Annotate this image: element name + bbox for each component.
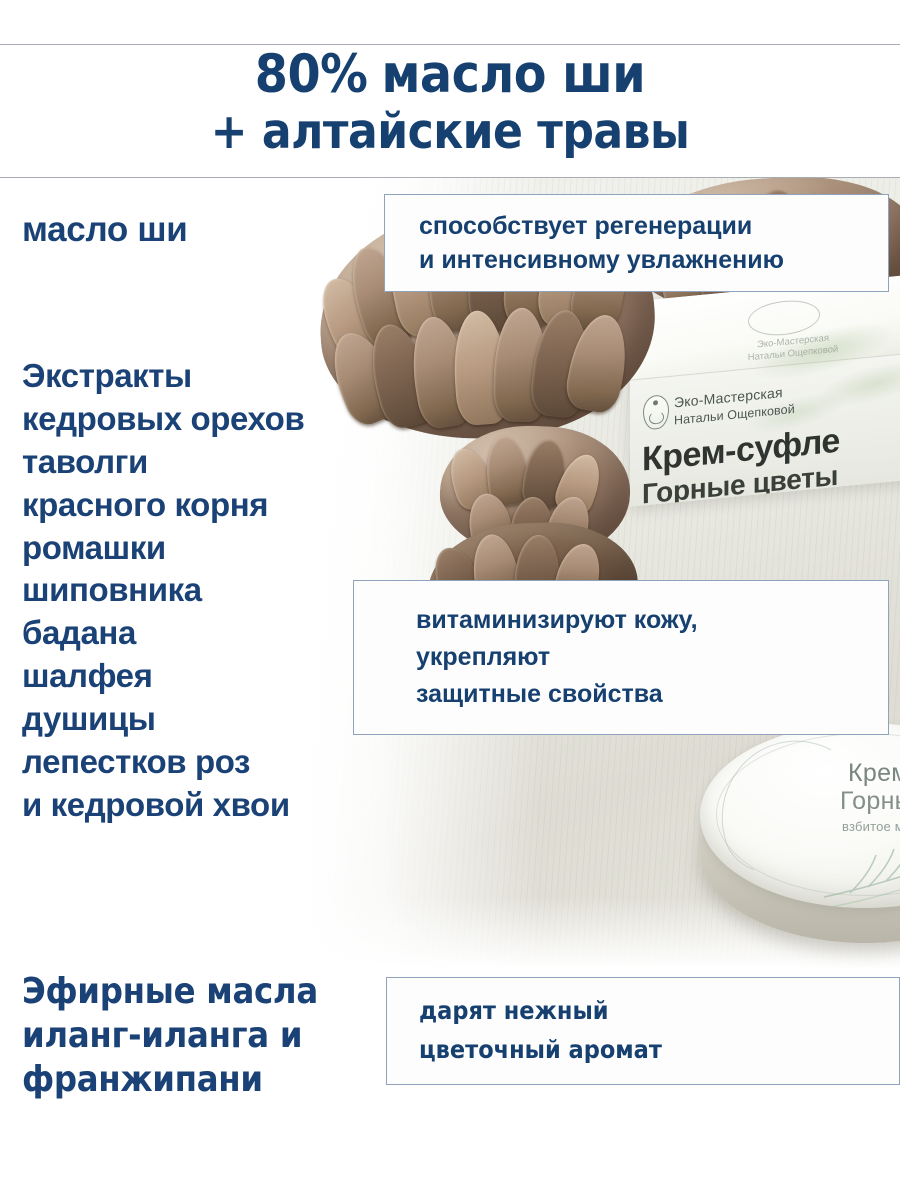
- callout-line: укрепляют: [416, 639, 888, 676]
- header-rule-bottom: [0, 177, 900, 178]
- ingredient-label-shea: масло ши: [22, 210, 188, 250]
- callout-extracts-benefit: витаминизируют кожу, укрепляют защитные …: [353, 580, 889, 735]
- page-title-line2: + алтайские травы: [0, 107, 900, 156]
- oils-line: иланг-иланга и: [22, 1014, 318, 1058]
- jar-description: взбитое масло Ши с травами: [842, 819, 900, 834]
- ingredient-list-essential-oils: Эфирные масла иланг-иланга и франжипани: [22, 970, 318, 1102]
- callout-line: цветочный аромат: [419, 1031, 899, 1070]
- extract-item: шиповника: [22, 569, 304, 612]
- shea-word: масло ши: [381, 44, 645, 105]
- jar-subtitle: Горные цветы: [840, 787, 900, 816]
- extract-item: и кедровой хвои: [22, 784, 304, 827]
- callout-line: витаминизируют кожу,: [416, 602, 888, 639]
- extract-item: красного корня: [22, 484, 304, 527]
- ingredient-list-extracts: Экстракты кедровых орехов таволги красно…: [22, 355, 304, 827]
- infographic-page: Эко-Мастерская Натальи Ощепковой Эко-Мас…: [0, 0, 900, 1200]
- oils-line: франжипани: [22, 1058, 318, 1102]
- product-carton: Эко-Мастерская Натальи Ощепковой Эко-Мас…: [630, 274, 900, 507]
- oils-line: Эфирные масла: [22, 970, 318, 1014]
- page-title: 80%масло ши + алтайские травы: [0, 48, 900, 156]
- extract-item: кедровых орехов: [22, 398, 304, 441]
- carton-top-emblem: [748, 297, 820, 338]
- product-jar: Крем-суфле Горные цветы взбитое масло Ши…: [700, 723, 900, 953]
- extract-item: ромашки: [22, 527, 304, 570]
- extract-item: шалфея: [22, 655, 304, 698]
- extract-item: таволги: [22, 441, 304, 484]
- callout-oils-benefit: дарят нежный цветочный аромат: [386, 977, 900, 1085]
- callout-line: способствует регенерации: [419, 209, 888, 244]
- extract-item: душицы: [22, 698, 304, 741]
- extracts-heading: Экстракты: [22, 355, 304, 398]
- extract-item: бадана: [22, 612, 304, 655]
- callout-line: защитные свойства: [416, 676, 888, 713]
- callout-shea-benefit: способствует регенерации и интенсивному …: [384, 194, 889, 292]
- page-title-line1: 80%масло ши: [0, 48, 900, 101]
- shea-percentage: 80%: [255, 44, 368, 105]
- extract-item: лепестков роз: [22, 741, 304, 784]
- callout-line: дарят нежный: [419, 992, 899, 1031]
- product-photo: Эко-Мастерская Натальи Ощепковой Эко-Мас…: [300, 178, 900, 968]
- callout-line: и интенсивному увлажнению: [419, 243, 888, 278]
- jar-title: Крем-суфле: [848, 759, 900, 788]
